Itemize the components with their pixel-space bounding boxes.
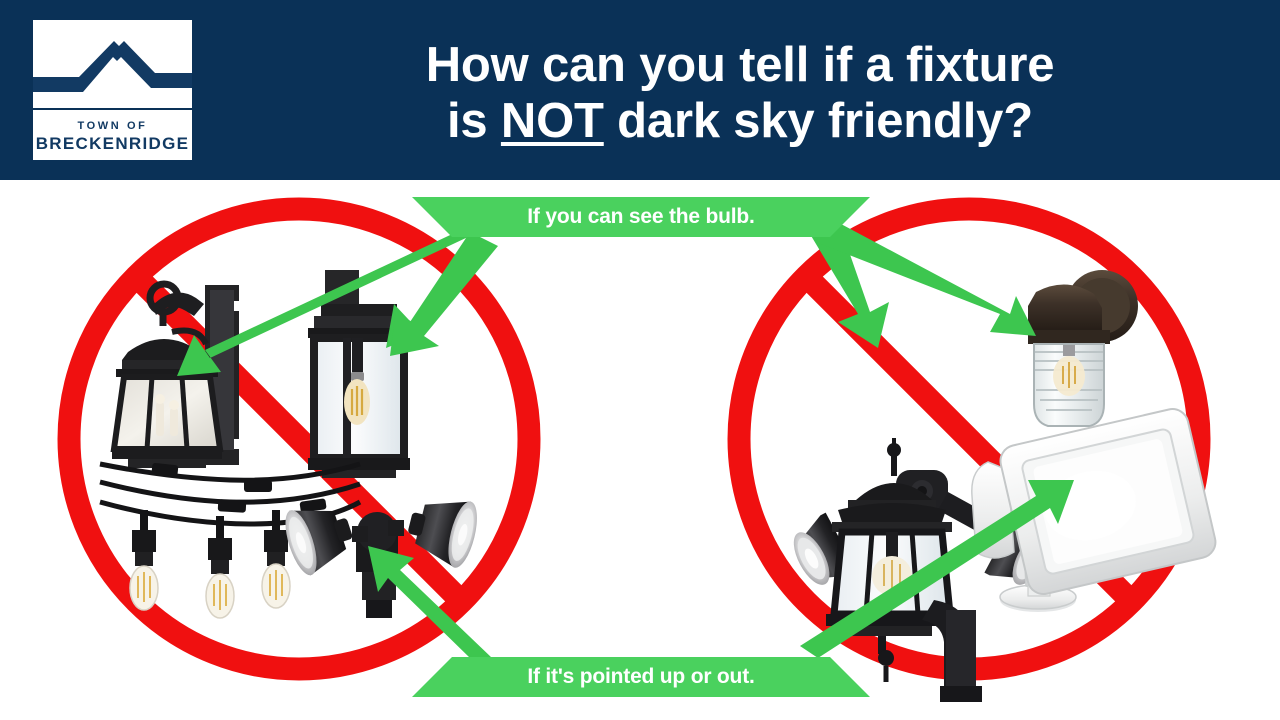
callout-banner-pointed-up-or-out[interactable]: If it's pointed up or out. (452, 657, 830, 697)
logo-city-label: BRECKENRIDGE (36, 133, 190, 154)
callout-banner-see-the-bulb-label: If you can see the bulb. (527, 205, 754, 229)
page-title: How can you tell if a fixture is NOT dar… (210, 14, 1270, 172)
slide-root: TOWN OF BRECKENRIDGE How can you tell if… (0, 0, 1280, 720)
slide-body: If you can see the bulb. If it's pointed… (0, 180, 1280, 720)
banner-notches-layer (0, 180, 1280, 720)
logo-town-label: TOWN OF (78, 119, 148, 133)
town-of-breckenridge-logo: TOWN OF BRECKENRIDGE (33, 20, 192, 160)
callout-banner-pointed-up-or-out-label: If it's pointed up or out. (527, 665, 754, 689)
title-line-2-prefix: is (447, 94, 501, 148)
callout-banner-see-the-bulb[interactable]: If you can see the bulb. (452, 197, 830, 237)
banner-top-right-tail (830, 197, 870, 237)
banner-bottom-left-tail (412, 657, 452, 697)
title-line-2-suffix: dark sky friendly? (604, 94, 1033, 148)
logo-divider (33, 108, 192, 110)
mountain-logo-icon (33, 20, 192, 108)
banner-top-left-tail (412, 197, 452, 237)
title-emphasis-not: NOT (501, 94, 604, 148)
slide-header: TOWN OF BRECKENRIDGE How can you tell if… (0, 0, 1280, 180)
banner-bottom-right-tail (830, 657, 870, 697)
title-line-1: How can you tell if a fixture (426, 37, 1055, 93)
title-line-2: is NOT dark sky friendly? (447, 93, 1033, 149)
